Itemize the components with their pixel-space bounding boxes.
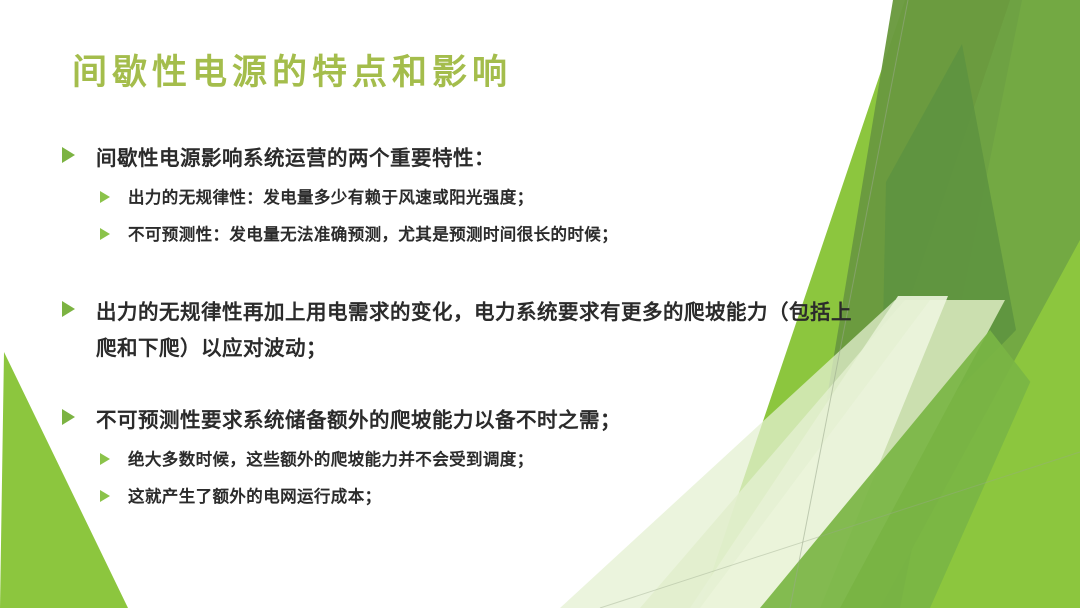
bullet-text: 间歇性电源影响系统运营的两个重要特性： bbox=[96, 140, 495, 176]
triangle-right-icon bbox=[62, 294, 96, 321]
bullet-text: 出力的无规律性：发电量多少有赖于风速或阳光强度； bbox=[128, 182, 534, 214]
triangle-right-icon bbox=[100, 182, 128, 207]
triangle-right-icon bbox=[100, 481, 128, 506]
right-lime-base bbox=[862, 0, 1080, 608]
bullet-text: 出力的无规律性再加上用电需求的变化，电力系统要求有更多的爬坡能力（包括上爬和下爬… bbox=[96, 294, 862, 366]
bullet-item-level1: 出力的无规律性再加上用电需求的变化，电力系统要求有更多的爬坡能力（包括上爬和下爬… bbox=[62, 294, 862, 366]
bullet-item-level2: 绝大多数时候，这些额外的爬坡能力并不会受到调度； bbox=[100, 444, 862, 476]
bullet-item-level1: 间歇性电源影响系统运营的两个重要特性： bbox=[62, 140, 862, 176]
textured-green-triangle bbox=[880, 44, 1016, 470]
content-block: 不可预测性要求系统储备额外的爬坡能力以备不时之需； 绝大多数时候，这些额外的爬坡… bbox=[62, 402, 862, 513]
bullet-text: 不可预测性：发电量无法准确预测，尤其是预测时间很长的时候； bbox=[128, 219, 618, 251]
triangle-right-icon bbox=[62, 402, 96, 429]
bullet-text: 绝大多数时候，这些额外的爬坡能力并不会受到调度； bbox=[128, 444, 534, 476]
triangle-right-icon bbox=[62, 140, 96, 167]
lower-right-green-accent bbox=[930, 360, 1080, 608]
bullet-item-level2: 不可预测性：发电量无法准确预测，尤其是预测时间很长的时候； bbox=[100, 219, 862, 251]
bullet-item-level1: 不可预测性要求系统储备额外的爬坡能力以备不时之需； bbox=[62, 402, 862, 438]
bullet-text: 这就产生了额外的电网运行成本； bbox=[128, 481, 382, 513]
triangle-right-icon bbox=[100, 444, 128, 469]
bullet-item-level2: 出力的无规律性：发电量多少有赖于风速或阳光强度； bbox=[100, 182, 862, 214]
triangle-right-icon bbox=[100, 219, 128, 244]
page-title: 间歇性电源的特点和影响 bbox=[72, 52, 512, 94]
bullet-text: 不可预测性要求系统储备额外的爬坡能力以备不时之需； bbox=[96, 402, 621, 438]
content-block: 间歇性电源影响系统运营的两个重要特性： 出力的无规律性：发电量多少有赖于风速或阳… bbox=[62, 140, 862, 251]
spacer bbox=[62, 256, 862, 294]
presentation-slide: 间歇性电源的特点和影响 间歇性电源影响系统运营的两个重要特性： 出力的无规律性：… bbox=[0, 0, 1080, 608]
bullet-item-level2: 这就产生了额外的电网运行成本； bbox=[100, 481, 862, 513]
content-block: 出力的无规律性再加上用电需求的变化，电力系统要求有更多的爬坡能力（包括上爬和下爬… bbox=[62, 294, 862, 366]
spacer bbox=[62, 372, 862, 402]
slide-body: 间歇性电源影响系统运营的两个重要特性： 出力的无规律性：发电量多少有赖于风速或阳… bbox=[62, 140, 862, 518]
